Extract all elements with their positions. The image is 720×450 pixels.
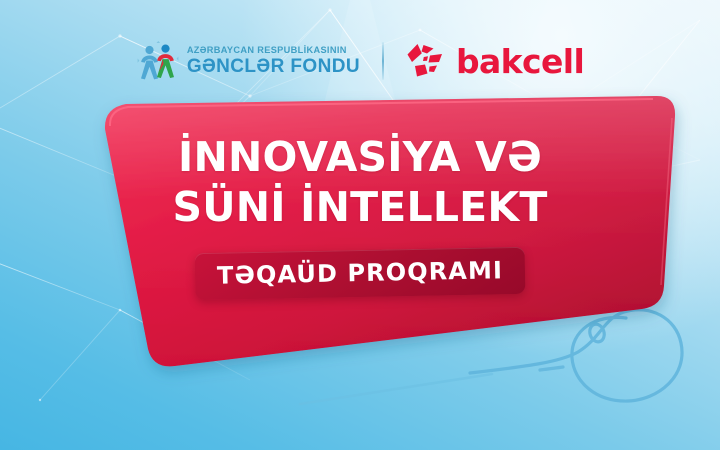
headline-line-1: İNNOVASİYA VƏ	[0, 106, 720, 182]
youth-fund-logo[interactable]: AZƏRBAYCAN RESPUBLİKASININ GƏNCLƏR FONDU	[136, 40, 360, 82]
headline-line-2: SÜNİ İNTELLEKT	[0, 184, 720, 232]
bakcell-logo[interactable]: bakcell	[406, 42, 584, 80]
swirl-decoration	[470, 310, 682, 401]
promo-banner: AZƏRBAYCAN RESPUBLİKASININ GƏNCLƏR FONDU…	[0, 0, 720, 450]
bakcell-shards-icon	[406, 42, 450, 80]
youth-fund-line1: AZƏRBAYCAN RESPUBLİKASININ	[187, 46, 360, 55]
bakcell-wordmark: bakcell	[456, 45, 584, 78]
youth-fund-line2: GƏNCLƏR FONDU	[187, 57, 360, 76]
plate-content: İNNOVASİYA VƏ SÜNİ İNTELLEKT TƏQAÜD PROQ…	[0, 106, 720, 297]
swirl-tail	[300, 374, 492, 404]
logo-bar: AZƏRBAYCAN RESPUBLİKASININ GƏNCLƏR FONDU…	[0, 33, 720, 89]
youth-fund-wordmark: AZƏRBAYCAN RESPUBLİKASININ GƏNCLƏR FONDU	[187, 46, 360, 76]
logo-divider	[382, 42, 384, 80]
gnclr-fondu-figures-icon	[136, 40, 180, 82]
program-badge: TƏQAÜD PROQRAMI	[195, 247, 526, 300]
